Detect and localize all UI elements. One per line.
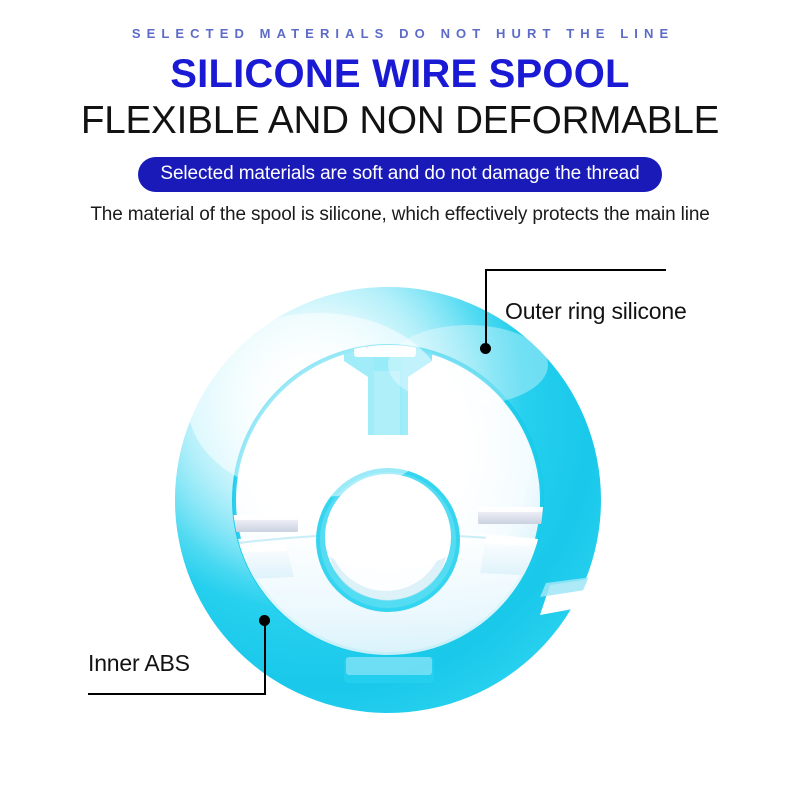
page-subtitle: FLEXIBLE AND NON DEFORMABLE <box>4 99 796 143</box>
page-title: SILICONE WIRE SPOOL <box>0 52 800 96</box>
callout-label-inner-disc: Inner ABS <box>88 650 190 676</box>
product-image <box>168 285 608 725</box>
eyebrow-tagline: SELECTED MATERIALS DO NOT HURT THE LINE <box>0 26 800 41</box>
product-infographic: SELECTED MATERIALS DO NOT HURT THE LINE … <box>0 0 800 800</box>
callout-label-outer-ring: Outer ring silicone <box>505 298 687 324</box>
callout-leader-inner-vertical <box>264 624 266 695</box>
lead-paragraph: The material of the spool is silicone, w… <box>0 203 800 227</box>
callout-leader-outer-horizontal <box>485 269 666 271</box>
callout-leader-outer-vertical <box>485 270 487 350</box>
badge-row: Selected materials are soft and do not d… <box>0 157 800 192</box>
highlight-badge: Selected materials are soft and do not d… <box>138 157 661 192</box>
callout-leader-inner-horizontal <box>88 693 266 695</box>
